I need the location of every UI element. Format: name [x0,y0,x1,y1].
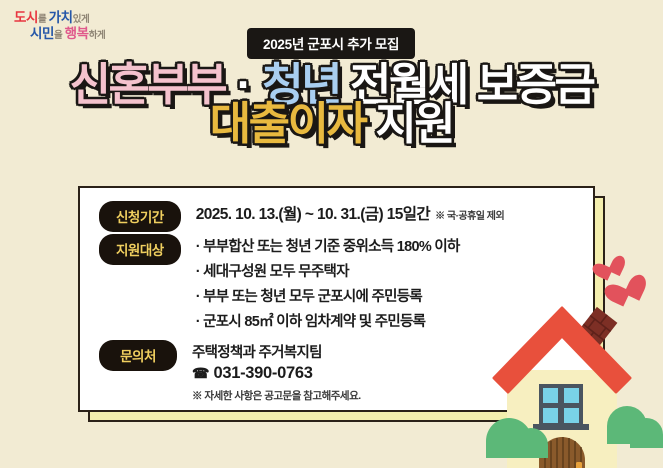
slogan-word-dosi: 도시 [14,10,38,25]
slogan-line-1: 도시를 가치있게 [14,10,194,26]
bush-icon [630,418,663,448]
slogan-particle-2: 을 [54,30,65,41]
list-item: · 세대구성원 모두 무주택자 [196,260,460,285]
eligibility-bullet-list: · 부부합산 또는 청년 기준 중위소득 180% 이하 · 세대구성원 모두 … [196,235,460,335]
bush-icon [514,428,548,458]
slogan-line-2: 시민을 행복하게 [14,26,194,42]
list-item: · 군포시 85㎡ 이하 임차계약 및 주민등록 [196,310,460,335]
poster: 도시를 가치있게 시민을 행복하게 2025년 군포시 추가 모집 신혼부부 ·… [0,0,663,468]
info-row-eligibility: 지원대상 · 부부합산 또는 청년 기준 중위소득 180% 이하 · 세대구성… [99,234,460,335]
list-item: · 부부 또는 청년 모두 군포시에 주민등록 [196,285,460,310]
info-row-body-application-period: 2025. 10. 13.(월) ~ 10. 31.(금) 15일간※ 국·공휴… [196,201,505,224]
info-row-application-period: 신청기간 2025. 10. 13.(월) ~ 10. 31.(금) 15일간※… [99,201,504,232]
slogan-suffix-2: 하게 [89,30,106,41]
slogan-particle-1: 를 [38,14,49,25]
house-illustration [470,300,663,468]
label-pill-contact: 문의처 [99,340,177,371]
slogan-word-gachi: 가치 [49,10,73,25]
info-row-contact: 문의처 주택정책과 주거복지팀 ☎ 031-390-0763 ※ 자세한 사항은… [99,340,361,403]
headline-segment-support: 지원 [365,98,453,149]
list-item: · 부부합산 또는 청년 기준 중위소득 180% 이하 [196,235,460,260]
window-sill [533,424,589,430]
door-planks [545,437,581,468]
slogan-word-simin: 시민 [30,26,54,41]
window-pane [543,388,558,403]
door-knob-icon [576,462,582,468]
poster-headline: 신혼부부 · 청년 전월세 보증금 대출이자 지원 [0,62,663,146]
window-pane [564,408,579,423]
city-slogan-logo: 도시를 가치있게 시민을 행복하게 [14,10,194,42]
application-period-value-wrap: 2025. 10. 13.(월) ~ 10. 31.(금) 15일간※ 국·공휴… [196,202,505,224]
contact-department: 주택정책과 주거복지팀 [192,341,361,362]
contact-phone-line: ☎ 031-390-0763 [192,364,361,383]
label-pill-eligibility: 지원대상 [99,234,181,265]
application-period-value: 2025. 10. 13.(월) ~ 10. 31.(금) 15일간 [196,206,430,223]
info-row-body-eligibility: · 부부합산 또는 청년 기준 중위소득 180% 이하 · 세대구성원 모두 … [196,234,460,335]
headline-segment-newlywed: 신혼부부 [70,59,226,110]
window-pane [543,408,558,423]
contact-phone-number: 031-390-0763 [213,364,312,382]
headline-segment-loan-interest: 대출이자 [210,98,366,149]
slogan-suffix-1: 있게 [73,14,90,25]
info-row-body-contact: 주택정책과 주거복지팀 ☎ 031-390-0763 ※ 자세한 사항은 공고문… [192,340,361,403]
label-pill-application-period: 신청기간 [99,201,181,232]
telephone-icon: ☎ [192,365,209,381]
application-period-note: ※ 국·공휴일 제외 [435,211,504,222]
contact-note: ※ 자세한 사항은 공고문을 참고해주세요. [192,388,361,403]
slogan-word-haengbok: 행복 [65,26,89,41]
window-pane [564,388,579,403]
recruitment-banner: 2025년 군포시 추가 모집 [247,28,415,59]
